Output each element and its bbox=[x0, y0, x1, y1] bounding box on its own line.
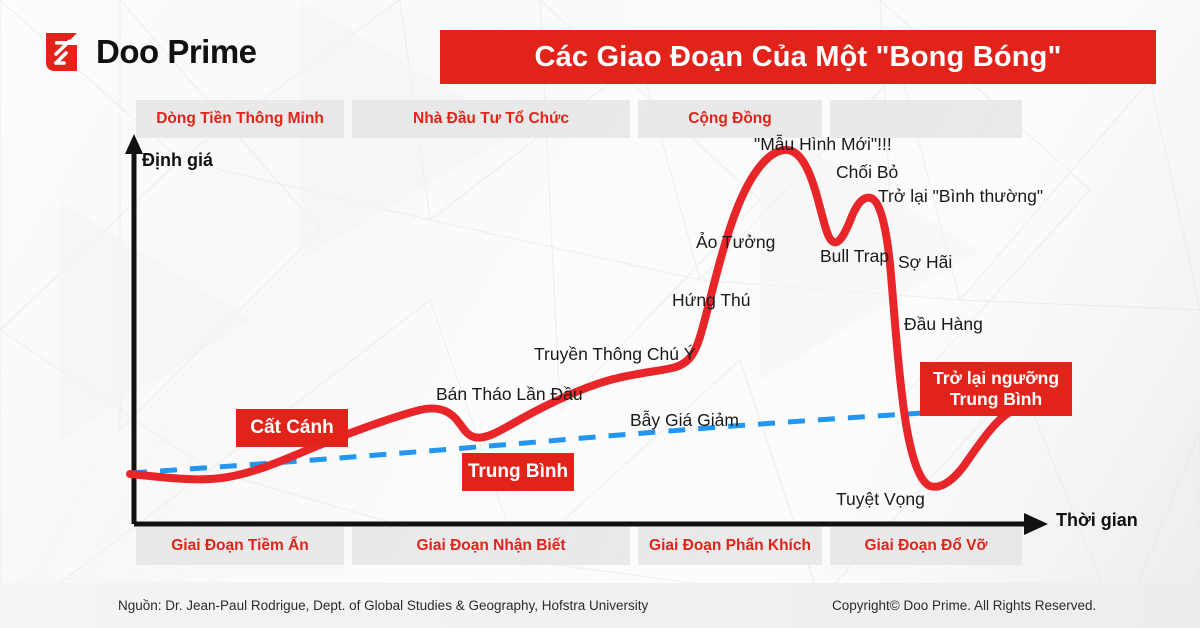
footer-source: Nguồn: Dr. Jean-Paul Rodrigue, Dept. of … bbox=[118, 598, 648, 613]
badge-mean: Trung Bình bbox=[462, 453, 574, 491]
annotation-denial: Chối Bỏ bbox=[836, 162, 898, 183]
bubble-phases-chart bbox=[0, 0, 1200, 628]
y-axis-label: Định giá bbox=[142, 150, 213, 171]
annotation-new-paradigm: "Mẫu Hình Mới"!!! bbox=[754, 134, 892, 155]
badge-return-mean: Trở lại ngưỡng Trung Bình bbox=[920, 362, 1072, 416]
annotation-delusion: Ảo Tưởng bbox=[696, 232, 775, 253]
annotation-fear: Sợ Hãi bbox=[898, 252, 952, 273]
x-axis-arrow-icon bbox=[1024, 513, 1048, 535]
annotation-bear-trap: Bẫy Giá Giảm bbox=[630, 410, 739, 431]
annotation-despair: Tuyệt Vọng bbox=[836, 489, 925, 510]
annotation-media-attention: Truyền Thông Chú Ý bbox=[534, 344, 695, 365]
badge-take-off: Cất Cánh bbox=[236, 409, 348, 447]
annotation-enthusiasm: Hứng Thú bbox=[672, 290, 751, 311]
footer-copyright: Copyright© Doo Prime. All Rights Reserve… bbox=[832, 598, 1096, 613]
y-axis-arrow-icon bbox=[125, 134, 143, 154]
annotation-bull-trap: Bull Trap bbox=[820, 246, 889, 267]
annotation-first-selloff: Bán Tháo Lần Đầu bbox=[436, 384, 583, 405]
x-axis-label: Thời gian bbox=[1056, 510, 1138, 531]
annotation-return-to-normal: Trở lại "Bình thường" bbox=[878, 186, 1043, 207]
annotation-capitulation: Đầu Hàng bbox=[904, 314, 983, 335]
infographic-canvas: Doo Prime Các Giao Đoạn Của Một "Bong Bó… bbox=[0, 0, 1200, 628]
